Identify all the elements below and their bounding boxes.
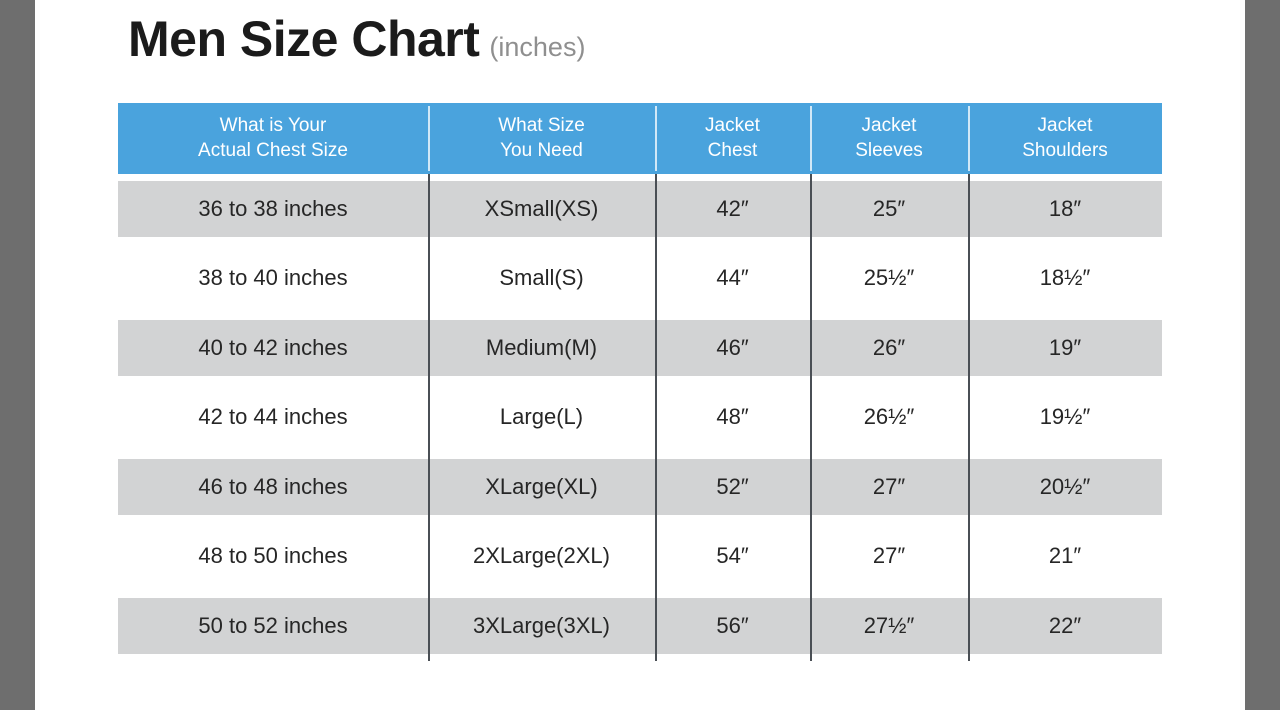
cell-actual-chest-size: 46 to 48 inches — [118, 452, 428, 522]
column-header-line2: Sleeves — [855, 139, 923, 164]
column-divider — [968, 591, 970, 661]
cell-jacket-shoulders: 22″ — [968, 591, 1162, 661]
table-row: 38 to 40 inchesSmall(S)44″25½″18½″ — [118, 244, 1162, 314]
column-header-line2: Shoulders — [1022, 139, 1108, 164]
cell-size-you-need: XSmall(XS) — [428, 174, 655, 244]
cell-value: Small(S) — [499, 265, 583, 291]
cell-jacket-shoulders: 18″ — [968, 174, 1162, 244]
cell-value: 27″ — [873, 474, 905, 500]
cell-value: 19″ — [1049, 335, 1081, 361]
cell-value: 26″ — [873, 335, 905, 361]
column-divider — [655, 244, 657, 314]
cell-value: 18½″ — [1040, 265, 1091, 291]
column-divider — [810, 522, 812, 592]
column-divider — [655, 383, 657, 453]
cell-jacket-sleeves: 27″ — [810, 522, 968, 592]
column-divider — [655, 452, 657, 522]
column-header-jacket-shoulders: Jacket Shoulders — [968, 103, 1162, 174]
cell-value: 36 to 38 inches — [198, 196, 347, 222]
cell-actual-chest-size: 50 to 52 inches — [118, 591, 428, 661]
cell-value: 56″ — [716, 613, 748, 639]
cell-value: XLarge(XL) — [485, 474, 598, 500]
column-divider — [810, 244, 812, 314]
column-divider — [810, 591, 812, 661]
cell-value: 52″ — [716, 474, 748, 500]
column-header-line2: You Need — [500, 139, 583, 164]
page-title-unit: (inches) — [489, 34, 585, 61]
cell-value: 44″ — [716, 265, 748, 291]
cell-value: Medium(M) — [486, 335, 597, 361]
cell-jacket-chest: 48″ — [655, 383, 810, 453]
cell-value: 20½″ — [1040, 474, 1091, 500]
column-header-size-you-need: What Size You Need — [428, 103, 655, 174]
page-title: Men Size Chart (inches) — [128, 14, 585, 64]
column-divider — [810, 452, 812, 522]
column-header-jacket-chest: Jacket Chest — [655, 103, 810, 174]
cell-value: 48″ — [716, 404, 748, 430]
cell-jacket-sleeves: 27½″ — [810, 591, 968, 661]
page-title-main: Men Size Chart — [128, 14, 479, 64]
cell-value: 27″ — [873, 543, 905, 569]
slide-canvas: Men Size Chart (inches) What is Your Act… — [35, 0, 1245, 710]
cell-value: 2XLarge(2XL) — [473, 543, 610, 569]
cell-jacket-sleeves: 26″ — [810, 313, 968, 383]
column-divider — [428, 244, 430, 314]
cell-value: 42″ — [716, 196, 748, 222]
column-header-line1: What Size — [498, 114, 585, 139]
cell-actual-chest-size: 36 to 38 inches — [118, 174, 428, 244]
cell-jacket-chest: 52″ — [655, 452, 810, 522]
cell-value: XSmall(XS) — [485, 196, 599, 222]
cell-jacket-chest: 46″ — [655, 313, 810, 383]
column-header-line1: What is Your — [220, 114, 327, 139]
column-divider — [428, 522, 430, 592]
column-divider — [428, 174, 430, 244]
cell-value: 21″ — [1049, 543, 1081, 569]
cell-value: 25″ — [873, 196, 905, 222]
letterbox-left — [0, 0, 35, 710]
cell-size-you-need: Small(S) — [428, 244, 655, 314]
column-header-line1: Jacket — [1038, 114, 1093, 139]
cell-value: 18″ — [1049, 196, 1081, 222]
cell-jacket-shoulders: 21″ — [968, 522, 1162, 592]
cell-value: Large(L) — [500, 404, 583, 430]
cell-value: 3XLarge(3XL) — [473, 613, 610, 639]
column-divider — [968, 313, 970, 383]
cell-jacket-chest: 44″ — [655, 244, 810, 314]
column-header-actual-chest-size: What is Your Actual Chest Size — [118, 103, 428, 174]
column-divider — [655, 313, 657, 383]
cell-value: 42 to 44 inches — [198, 404, 347, 430]
cell-value: 27½″ — [864, 613, 915, 639]
cell-jacket-chest: 56″ — [655, 591, 810, 661]
cell-value: 50 to 52 inches — [198, 613, 347, 639]
table-header-row: What is Your Actual Chest Size What Size… — [118, 103, 1162, 174]
column-header-line2: Chest — [708, 139, 758, 164]
column-divider — [428, 383, 430, 453]
cell-jacket-shoulders: 19½″ — [968, 383, 1162, 453]
cell-jacket-shoulders: 20½″ — [968, 452, 1162, 522]
cell-size-you-need: 3XLarge(3XL) — [428, 591, 655, 661]
size-chart-table: What is Your Actual Chest Size What Size… — [118, 103, 1162, 661]
table-row: 48 to 50 inches2XLarge(2XL)54″27″21″ — [118, 522, 1162, 592]
cell-jacket-sleeves: 27″ — [810, 452, 968, 522]
cell-jacket-sleeves: 25½″ — [810, 244, 968, 314]
cell-actual-chest-size: 40 to 42 inches — [118, 313, 428, 383]
cell-value: 26½″ — [864, 404, 915, 430]
column-header-jacket-sleeves: Jacket Sleeves — [810, 103, 968, 174]
column-divider — [428, 591, 430, 661]
cell-jacket-shoulders: 19″ — [968, 313, 1162, 383]
column-divider — [810, 383, 812, 453]
column-divider — [968, 522, 970, 592]
column-header-line2: Actual Chest Size — [198, 139, 348, 164]
cell-value: 48 to 50 inches — [198, 543, 347, 569]
column-divider — [810, 313, 812, 383]
table-row: 36 to 38 inchesXSmall(XS)42″25″18″ — [118, 174, 1162, 244]
column-divider — [428, 313, 430, 383]
column-divider — [655, 174, 657, 244]
column-divider — [968, 244, 970, 314]
cell-jacket-chest: 54″ — [655, 522, 810, 592]
column-header-line1: Jacket — [862, 114, 917, 139]
cell-size-you-need: Large(L) — [428, 383, 655, 453]
cell-size-you-need: 2XLarge(2XL) — [428, 522, 655, 592]
column-divider — [968, 452, 970, 522]
cell-value: 38 to 40 inches — [198, 265, 347, 291]
cell-value: 22″ — [1049, 613, 1081, 639]
cell-actual-chest-size: 48 to 50 inches — [118, 522, 428, 592]
column-header-line1: Jacket — [705, 114, 760, 139]
table-row: 50 to 52 inches3XLarge(3XL)56″27½″22″ — [118, 591, 1162, 661]
cell-jacket-sleeves: 26½″ — [810, 383, 968, 453]
cell-value: 46″ — [716, 335, 748, 361]
cell-value: 19½″ — [1040, 404, 1091, 430]
column-divider — [428, 452, 430, 522]
column-divider — [810, 174, 812, 244]
cell-value: 25½″ — [864, 265, 915, 291]
letterbox-right — [1245, 0, 1280, 710]
cell-jacket-sleeves: 25″ — [810, 174, 968, 244]
cell-actual-chest-size: 42 to 44 inches — [118, 383, 428, 453]
column-divider — [968, 174, 970, 244]
cell-jacket-chest: 42″ — [655, 174, 810, 244]
table-row: 40 to 42 inchesMedium(M)46″26″19″ — [118, 313, 1162, 383]
cell-jacket-shoulders: 18½″ — [968, 244, 1162, 314]
cell-actual-chest-size: 38 to 40 inches — [118, 244, 428, 314]
table-body: 36 to 38 inchesXSmall(XS)42″25″18″38 to … — [118, 174, 1162, 661]
cell-size-you-need: Medium(M) — [428, 313, 655, 383]
cell-size-you-need: XLarge(XL) — [428, 452, 655, 522]
cell-value: 40 to 42 inches — [198, 335, 347, 361]
column-divider — [655, 591, 657, 661]
table-row: 46 to 48 inchesXLarge(XL)52″27″20½″ — [118, 452, 1162, 522]
cell-value: 46 to 48 inches — [198, 474, 347, 500]
column-divider — [968, 383, 970, 453]
column-divider — [655, 522, 657, 592]
table-row: 42 to 44 inchesLarge(L)48″26½″19½″ — [118, 383, 1162, 453]
cell-value: 54″ — [716, 543, 748, 569]
